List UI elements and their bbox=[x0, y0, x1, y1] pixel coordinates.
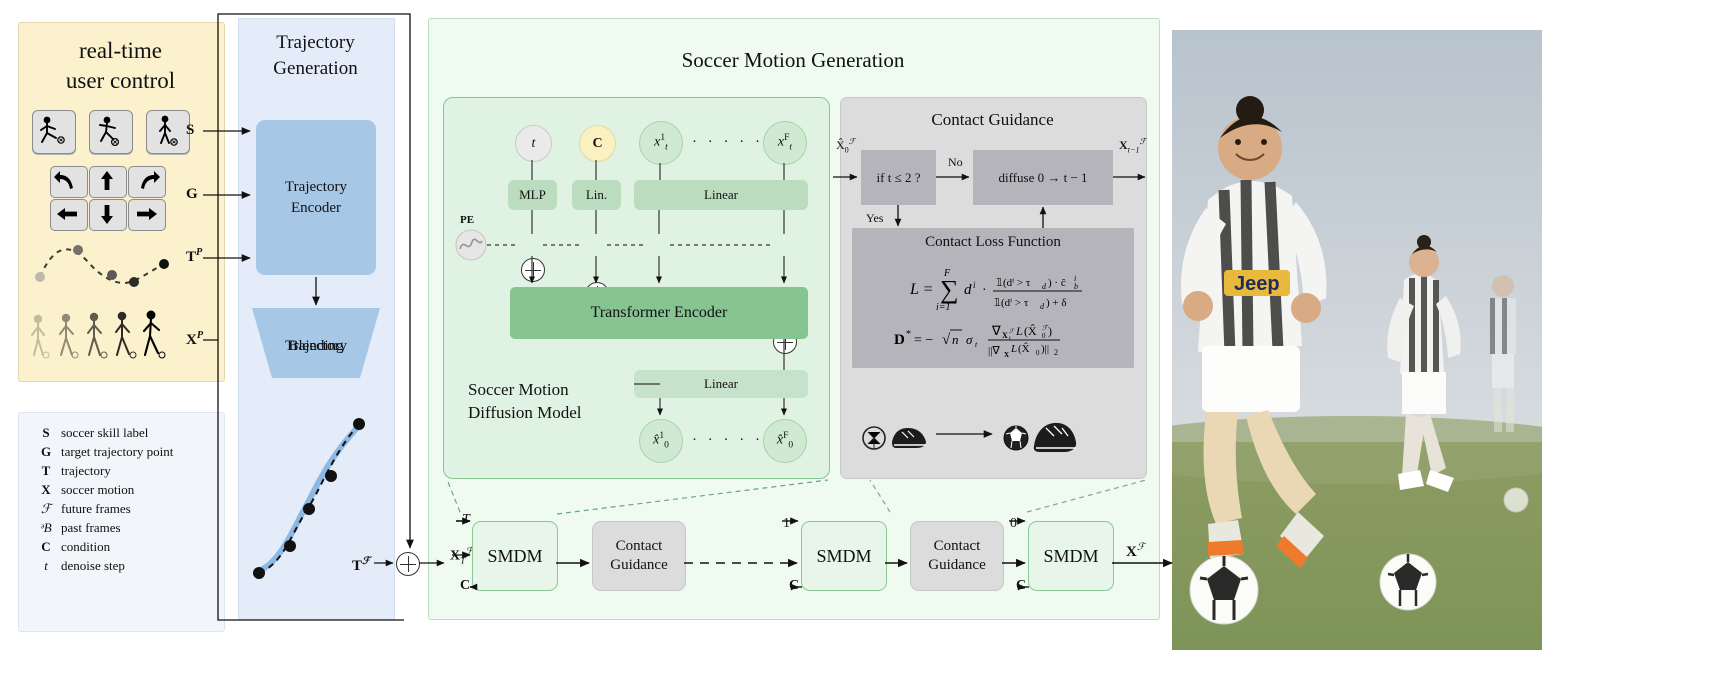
legend-desc: past frames bbox=[61, 518, 173, 537]
blending-line-2: Blending bbox=[252, 336, 380, 357]
pipeline-input-C: C bbox=[460, 578, 470, 594]
label-X-sup: P bbox=[197, 330, 203, 341]
svg-text:σ: σ bbox=[966, 332, 973, 347]
svg-text:)||: )|| bbox=[1041, 343, 1049, 355]
legend-desc: condition bbox=[61, 537, 173, 556]
pipeline-input-T: T bbox=[462, 512, 470, 528]
skill-key-stand[interactable] bbox=[146, 110, 190, 154]
label-T-sup: P bbox=[196, 247, 202, 258]
svg-text:·: · bbox=[982, 283, 987, 298]
smdm-label: Soccer Motion Diffusion Model bbox=[468, 378, 618, 424]
legend-symbol: S bbox=[31, 423, 61, 442]
legend-row: tdenoise step bbox=[31, 556, 173, 575]
svg-text:i=1: i=1 bbox=[936, 302, 951, 313]
node-c-label: C bbox=[592, 136, 602, 152]
pipeline-X-sub: T bbox=[460, 556, 465, 566]
legend-symbol: ᵊB bbox=[31, 518, 61, 537]
svg-text:) · ĉ: ) · ĉ bbox=[1048, 277, 1066, 289]
mlp-block: MLP bbox=[508, 180, 557, 210]
trajectory-blending-box[interactable]: Trajectory Blending bbox=[252, 308, 380, 378]
legend-symbol: T bbox=[31, 461, 61, 480]
node-xhat-first: x̂10 bbox=[639, 419, 683, 463]
cg-input-sub: 0 bbox=[845, 145, 849, 154]
svg-text:∇: ∇ bbox=[991, 323, 1001, 338]
node-xhat-last: x̂F0 bbox=[763, 419, 807, 463]
label-X: X bbox=[186, 332, 197, 348]
cg-output-sub: t−1 bbox=[1128, 145, 1140, 154]
soccer-motion-generation-title: Soccer Motion Generation bbox=[428, 48, 1158, 73]
svg-text:= −: = − bbox=[914, 333, 933, 348]
node-xhat1-sub: 0 bbox=[664, 441, 669, 451]
pipeline-C-label: C bbox=[460, 578, 470, 593]
contact-shoe-ball-icon bbox=[1000, 410, 1080, 460]
svg-text:ℱ: ℱ bbox=[1009, 328, 1015, 335]
title-line-1: real-time bbox=[18, 36, 223, 66]
arrow-key-up-left[interactable] bbox=[50, 166, 88, 198]
guidance-gradient-formula: D * = − √ n σ t ∇ X t ℱ L (X̂ 0 ℱ ) ||∇ … bbox=[860, 316, 1128, 362]
svg-text:d: d bbox=[964, 282, 972, 298]
svg-text:): ) bbox=[1048, 324, 1052, 338]
contact-guidance-block-1[interactable]: Contact Guidance bbox=[592, 521, 686, 591]
pipeline-input-C-2: C bbox=[789, 578, 799, 594]
arrow-key-up[interactable] bbox=[89, 166, 127, 198]
node-timestep-t: t bbox=[515, 125, 552, 162]
skill-key-kick[interactable] bbox=[32, 110, 76, 154]
branch-yes-label: Yes bbox=[866, 211, 883, 226]
pipeline-X-base: X bbox=[450, 549, 460, 564]
svg-text:L: L bbox=[1010, 343, 1017, 355]
svg-text:L: L bbox=[1015, 324, 1023, 338]
svg-text:||∇: ||∇ bbox=[988, 345, 1000, 357]
legend-row: Gtarget trajectory point bbox=[31, 442, 173, 461]
pipeline-out-base: X bbox=[1126, 544, 1137, 560]
svg-text:Jeep: Jeep bbox=[1234, 273, 1280, 295]
node-xhatF-sub: 0 bbox=[788, 441, 793, 451]
svg-text:) + δ: ) + δ bbox=[1046, 297, 1067, 309]
legend-table: Ssoccer skill label Gtarget trajectory p… bbox=[31, 423, 173, 575]
trajectory-generation-title: Trajectory Generation bbox=[238, 30, 393, 82]
cg-input-base: X̂ bbox=[836, 138, 845, 152]
svg-text:L =: L = bbox=[909, 281, 933, 298]
legend-symbol: X bbox=[31, 480, 61, 499]
rendered-soccer-scene: Jeep bbox=[1172, 30, 1542, 650]
cg2-line-1: Contact bbox=[928, 537, 985, 556]
linear-out-label: Linear bbox=[704, 376, 738, 392]
label-past-trajectory: TP bbox=[186, 247, 202, 266]
svg-text:d: d bbox=[1042, 282, 1047, 291]
diffuse-label: diffuse 0 → t − 1 bbox=[998, 170, 1087, 186]
label-past-motion: XP bbox=[186, 330, 203, 349]
cg-input-sup: ℱ bbox=[849, 137, 855, 146]
node-t-label: t bbox=[532, 136, 536, 152]
legend-row: ℱfuture frames bbox=[31, 499, 173, 518]
svg-text:i: i bbox=[973, 280, 976, 290]
traj-title-line-1: Trajectory bbox=[238, 30, 393, 56]
svg-text:F: F bbox=[943, 268, 951, 279]
positional-encoding-icon bbox=[455, 229, 487, 261]
svg-text:𝟙(dⁱ > τ: 𝟙(dⁱ > τ bbox=[994, 297, 1029, 309]
traj-title-line-2: Generation bbox=[238, 56, 393, 82]
pipeline-input-C-3: C bbox=[1016, 578, 1026, 594]
svg-text:(X̂: (X̂ bbox=[1024, 324, 1037, 338]
svg-text:*: * bbox=[906, 329, 911, 340]
svg-text:X: X bbox=[1002, 331, 1008, 340]
legend-row: ᵊBpast frames bbox=[31, 518, 173, 537]
svg-text:0: 0 bbox=[1036, 349, 1040, 357]
legend-desc: soccer skill label bbox=[61, 423, 173, 442]
contact-guidance-title: Contact Guidance bbox=[840, 110, 1145, 130]
lin-block: Lin. bbox=[572, 180, 621, 210]
arrow-key-down[interactable] bbox=[89, 199, 127, 231]
svg-text:i: i bbox=[1074, 274, 1076, 283]
svg-text:n: n bbox=[952, 332, 959, 347]
legend-desc: denoise step bbox=[61, 556, 173, 575]
legend-symbol: t bbox=[31, 556, 61, 575]
label-skill-S: S bbox=[186, 122, 194, 139]
svg-text:2: 2 bbox=[1054, 348, 1058, 357]
title-line-2: user control bbox=[18, 66, 223, 96]
cg-output-base: X bbox=[1119, 138, 1128, 152]
label-T-out-sup: ℱ bbox=[362, 556, 370, 567]
cg1-line-2: Guidance bbox=[610, 556, 667, 575]
lin-label: Lin. bbox=[586, 187, 607, 203]
pipeline-out-sup: ℱ bbox=[1137, 542, 1145, 553]
svg-text:D: D bbox=[894, 332, 905, 348]
contact-loss-title: Contact Loss Function bbox=[852, 234, 1134, 251]
node-x-last: xFt bbox=[763, 121, 807, 165]
arrow-key-left[interactable] bbox=[50, 199, 88, 231]
legend-symbol: ℱ bbox=[31, 499, 61, 518]
linear-output-block: Linear bbox=[634, 370, 808, 398]
svg-text:∑: ∑ bbox=[940, 275, 959, 304]
label-goal-G: G bbox=[186, 186, 198, 203]
label-T: T bbox=[186, 249, 196, 265]
smdm-block-3[interactable]: SMDM bbox=[1028, 521, 1114, 591]
svg-text:d: d bbox=[1040, 302, 1045, 311]
trajectory-sum-node bbox=[396, 552, 420, 576]
contact-loss-formula: L = ∑ F i=1 d i · 𝟙(dⁱ > τ d ) · ĉ b i 𝟙… bbox=[860, 262, 1128, 314]
svg-text:𝟙(dⁱ > τ: 𝟙(dⁱ > τ bbox=[996, 277, 1031, 289]
legend-desc: trajectory bbox=[61, 461, 173, 480]
cg1-line-1: Contact bbox=[610, 537, 667, 556]
node-xF-sub: t bbox=[789, 143, 792, 153]
svg-text:√: √ bbox=[942, 332, 951, 348]
pipeline-step-1-label: 1 bbox=[783, 516, 790, 532]
pe-label: PE bbox=[460, 214, 474, 226]
smdm-1-label: SMDM bbox=[487, 546, 542, 567]
legend-symbol: G bbox=[31, 442, 61, 461]
legend-row: Ccondition bbox=[31, 537, 173, 556]
transformer-encoder-block: Transformer Encoder bbox=[510, 287, 808, 339]
smdm-2-label: SMDM bbox=[816, 546, 871, 567]
legend-row: Ttrajectory bbox=[31, 461, 173, 480]
svg-text:0: 0 bbox=[1042, 332, 1046, 340]
cg2-line-2: Guidance bbox=[928, 556, 985, 575]
branch-no-label: No bbox=[948, 155, 963, 170]
past-motion-preview bbox=[28, 305, 178, 367]
linear-in-label: Linear bbox=[704, 187, 738, 203]
svg-text:(X̂: (X̂ bbox=[1018, 342, 1030, 355]
node-x-first: x1t bbox=[639, 121, 683, 165]
label-T-out: T bbox=[352, 558, 362, 574]
encoder-line-1: Trajectory bbox=[285, 177, 347, 198]
contact-guidance-output-label: Xt−1ℱ bbox=[1119, 136, 1146, 154]
diffuse-box: diffuse 0 → t − 1 bbox=[973, 150, 1113, 205]
condition-check-label: if t ≤ 2 ? bbox=[877, 170, 921, 186]
svg-text:b: b bbox=[1074, 282, 1078, 291]
mlp-label: MLP bbox=[519, 187, 546, 203]
pipeline-output-label: Xℱ bbox=[1126, 542, 1145, 561]
svg-text:X: X bbox=[1004, 351, 1009, 359]
linear-input-block: Linear bbox=[634, 180, 808, 210]
trajectory-encoder-box[interactable]: Trajectory Encoder bbox=[256, 120, 376, 275]
skill-key-run[interactable] bbox=[89, 110, 133, 154]
pipeline-input-X: XTℱ bbox=[450, 546, 473, 566]
contact-guidance-input-label: X̂0ℱ bbox=[836, 136, 855, 154]
trajectory-preview bbox=[30, 232, 180, 292]
smdm-3-label: SMDM bbox=[1043, 546, 1098, 567]
legend-desc: target trajectory point bbox=[61, 442, 173, 461]
condition-check-box: if t ≤ 2 ? bbox=[861, 150, 936, 205]
label-future-trajectory: Tℱ bbox=[352, 556, 370, 575]
smdm-block-1[interactable]: SMDM bbox=[472, 521, 558, 591]
legend-row: Ssoccer skill label bbox=[31, 423, 173, 442]
arrow-key-up-right[interactable] bbox=[128, 166, 166, 198]
legend-symbol: C bbox=[31, 537, 61, 556]
pipeline-step-0-label: 0 bbox=[1010, 516, 1017, 532]
contact-guidance-block-2[interactable]: Contact Guidance bbox=[910, 521, 1004, 591]
legend-panel: Ssoccer skill label Gtarget trajectory p… bbox=[18, 412, 225, 632]
legend-desc: future frames bbox=[61, 499, 173, 518]
encoder-line-2: Encoder bbox=[285, 198, 347, 219]
transformer-label: Transformer Encoder bbox=[591, 304, 728, 322]
cg-output-sup: ℱ bbox=[1140, 137, 1146, 146]
legend-desc: soccer motion bbox=[61, 480, 173, 499]
legend-row: Xsoccer motion bbox=[31, 480, 173, 499]
node-condition-c: C bbox=[579, 125, 616, 162]
clean-soccer-shoe-icon bbox=[860, 412, 932, 458]
user-control-title: real-time user control bbox=[18, 36, 223, 96]
smdm-block-2[interactable]: SMDM bbox=[801, 521, 887, 591]
node-x1-sub: t bbox=[665, 143, 668, 153]
svg-text:t: t bbox=[1009, 336, 1011, 342]
smdm-label-line-1: Soccer Motion bbox=[468, 378, 618, 401]
sum-node-t bbox=[521, 258, 545, 282]
svg-text:t: t bbox=[975, 340, 978, 349]
pipeline-T-label: T bbox=[462, 512, 470, 527]
smdm-label-line-2: Diffusion Model bbox=[468, 401, 618, 424]
arrow-key-right[interactable] bbox=[128, 199, 166, 231]
